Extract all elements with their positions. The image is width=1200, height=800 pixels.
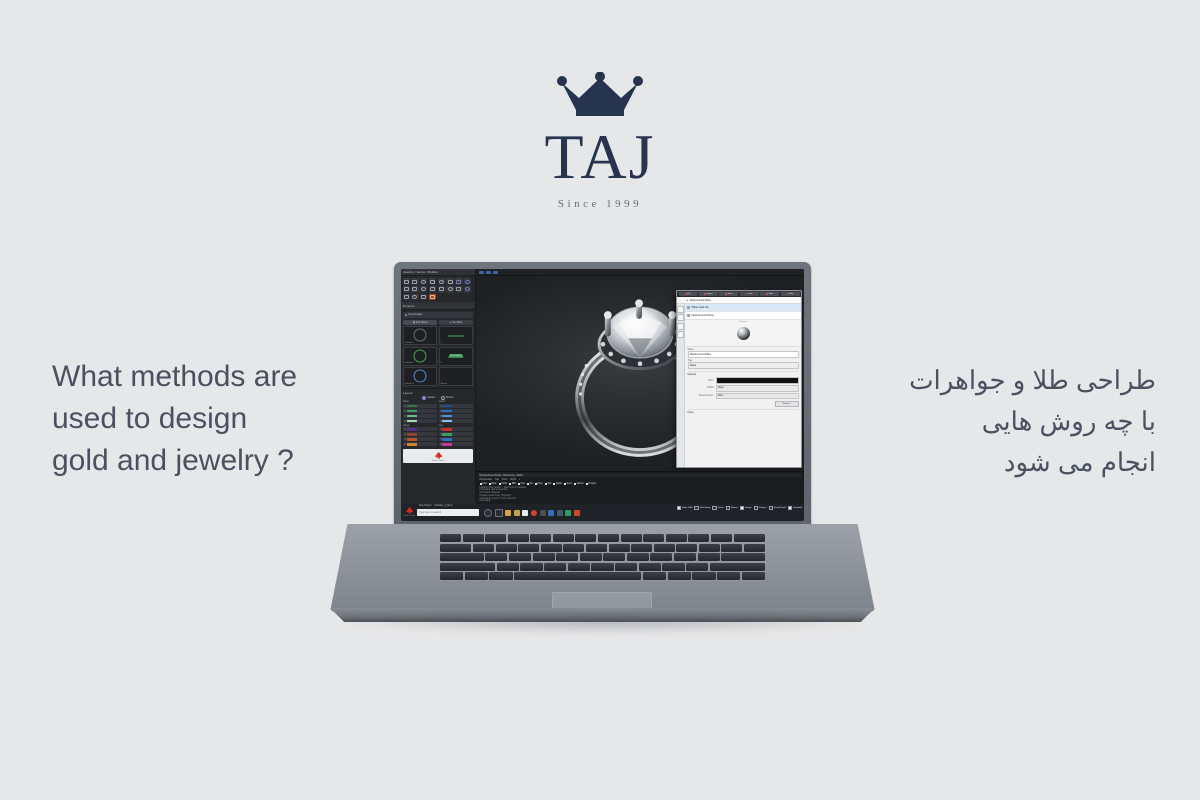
visibility-icon[interactable] [404, 410, 406, 412]
color-chip[interactable] [407, 433, 417, 436]
render-mode-icon[interactable] [493, 271, 498, 274]
thumbnail-gallery[interactable]: Default 1 Default 2 Default 3 [401, 326, 475, 386]
snap-vertex[interactable]: Vertex [574, 483, 584, 485]
word-icon[interactable] [557, 510, 563, 516]
forward-arrow-icon[interactable]: → [683, 299, 685, 302]
key-row [440, 544, 765, 552]
thumbnail-caption: Metals [441, 383, 447, 385]
swatch-row[interactable] [439, 419, 473, 423]
key [643, 534, 664, 542]
laptop-screen: Jewelry / Gems / Builder [401, 269, 804, 521]
row-color-label: Color [688, 380, 714, 382]
start-label: Jewel Canada [403, 515, 415, 517]
material-preview: Preview [685, 320, 801, 347]
toggle-snaps[interactable]: Snaps [740, 506, 752, 511]
visibility-icon[interactable] [440, 438, 442, 440]
row-bump-value[interactable]: None [716, 393, 799, 400]
color-chip[interactable] [407, 438, 417, 441]
row-polish: Polish Gloss [685, 384, 801, 392]
bend-icon[interactable] [438, 286, 445, 292]
windows-taskbar[interactable]: Jewel Canada Type here to search [401, 504, 804, 521]
ribbon-tab-help[interactable]: Help [781, 292, 800, 296]
snap-perp[interactable]: Perp [535, 483, 543, 485]
scale-icon[interactable] [429, 286, 436, 292]
key [463, 534, 484, 542]
ribbon-tab-import[interactable]: Import [699, 292, 718, 296]
settings-icon[interactable] [540, 510, 546, 516]
key [497, 563, 519, 571]
row-bump-label: Bump Amount [688, 395, 714, 397]
radio-icon [441, 396, 445, 400]
color-chip[interactable] [442, 433, 452, 436]
field-type: Type Metal [685, 358, 801, 369]
grid-view-icon[interactable] [677, 314, 684, 321]
browser-icon[interactable] [531, 510, 537, 516]
layer-mode-stones[interactable]: Stones [441, 396, 454, 400]
swatch-group-label: Gems [439, 401, 473, 403]
color-chip[interactable] [442, 428, 452, 431]
key [518, 544, 539, 552]
thumbnail-item[interactable]: Metals [439, 367, 473, 386]
tab-full-views-label: Full Views [416, 321, 427, 324]
swatch-row[interactable] [403, 427, 437, 431]
poster-canvas: TAJ Since 1999 What methods are used to … [0, 0, 1200, 800]
key [631, 544, 652, 552]
swatch-row[interactable] [403, 414, 437, 418]
key [662, 563, 684, 571]
laptop-device: Jewelry / Gems / Builder [330, 262, 875, 642]
ring-preview-icon [414, 370, 427, 383]
sphere-preview-icon[interactable] [677, 323, 684, 330]
key [440, 534, 461, 542]
row-polish-value[interactable]: Gloss [716, 385, 799, 392]
key-arrow-left [692, 572, 715, 580]
key [711, 534, 732, 542]
visibility-icon[interactable] [440, 405, 442, 407]
toolbar-title: Jewelry / Gems / Builder [401, 269, 475, 276]
viewport-tab-right[interactable]: Right [510, 478, 516, 481]
row-color: Color [685, 376, 801, 384]
key [544, 563, 566, 571]
tool-grid[interactable] [401, 276, 475, 302]
key [654, 544, 675, 552]
thumbnail-caption: 2 [441, 362, 442, 364]
key [556, 553, 578, 561]
layers-panel: Layers Metals Stones [401, 388, 475, 447]
thumbnail-item[interactable]: 2 [439, 347, 473, 366]
sphere-icon [687, 306, 690, 309]
key-arrow-right [742, 572, 765, 580]
ribbon-tab-tools[interactable]: Tools [760, 292, 779, 296]
snap-near[interactable]: Near [489, 483, 497, 485]
key [575, 534, 596, 542]
swatch-row[interactable] [403, 442, 437, 446]
thumbnail-item[interactable]: 1 [439, 326, 473, 345]
visibility-icon[interactable] [404, 433, 406, 435]
toggle-planar[interactable]: Planar [726, 506, 738, 511]
toggle-project[interactable]: Project [754, 506, 767, 511]
preview-caption: Preview [685, 321, 801, 323]
maple-leaf-icon [434, 451, 443, 460]
curve-icon[interactable] [429, 278, 436, 284]
loft-icon[interactable] [411, 278, 418, 284]
key [485, 534, 506, 542]
gem-icon[interactable] [455, 278, 462, 284]
key [533, 553, 555, 561]
section-notes: Notes [688, 409, 799, 414]
key [598, 534, 619, 542]
thumbnail-caption: 1 [441, 342, 442, 344]
viewport-tab-perspective[interactable]: Perspective [480, 478, 493, 481]
key-row [440, 572, 765, 580]
swatch-grid[interactable]: Object Line [403, 425, 473, 448]
key [744, 544, 765, 552]
material-item-label: White Gold 14k [692, 306, 709, 309]
viewport-toolbar[interactable] [476, 269, 804, 276]
extrude-icon[interactable] [403, 278, 410, 284]
field-name-input[interactable]: Metal Ground Plane [688, 351, 799, 358]
material-list-item[interactable]: White Gold 14k [685, 304, 801, 312]
key [686, 563, 708, 571]
key-alt [643, 572, 666, 580]
command-panel: My Rendered Studio - Rendering - Matrix … [476, 471, 804, 504]
key [615, 563, 637, 571]
key-win [489, 572, 512, 580]
render-viewport[interactable]: File Import Save View Tools Help ← → [476, 276, 804, 471]
key [688, 534, 709, 542]
key [627, 553, 649, 561]
sphere-icon: ● [687, 299, 688, 302]
thumbnail-caption: Default 3 [405, 383, 414, 385]
material-list[interactable]: White Gold 14k Metal Ground Plane Previe… [685, 304, 801, 467]
key [650, 553, 672, 561]
visibility-icon[interactable] [404, 405, 406, 407]
swatch-row[interactable] [439, 414, 473, 418]
swatch-group: Gems [439, 401, 473, 424]
warn-icon[interactable] [429, 294, 436, 300]
layer-mode-metals-label: Metals [427, 396, 434, 399]
array-icon[interactable] [411, 286, 418, 292]
key-row [440, 563, 765, 571]
visibility-icon[interactable] [404, 420, 406, 422]
swatch-row[interactable] [439, 432, 473, 436]
swatch-row[interactable] [439, 409, 473, 413]
thumbnail-item[interactable]: Default 2 [403, 347, 437, 366]
key [674, 553, 696, 561]
maple-leaf-icon [405, 506, 414, 515]
key-shift-right [710, 563, 765, 571]
color-swatch-button[interactable] [716, 377, 799, 384]
key-arrow-up [717, 572, 740, 580]
key [621, 534, 642, 542]
visibility-icon[interactable] [404, 438, 406, 440]
tab-full-views[interactable]: ▦ Full Views [403, 320, 437, 326]
key [530, 534, 551, 542]
visibility-icon[interactable] [440, 433, 442, 435]
measure-icon[interactable] [403, 294, 410, 300]
laptop-lid: Jewelry / Gems / Builder [394, 262, 811, 530]
key-capslock [440, 553, 484, 561]
preview-sphere-icon [737, 327, 750, 340]
key [520, 563, 542, 571]
dialog-side-rail[interactable] [677, 304, 685, 467]
key [591, 563, 613, 571]
color-chip[interactable] [442, 405, 452, 408]
key [509, 553, 531, 561]
snap-point[interactable]: Point [499, 483, 508, 485]
row-polish-label: Polish [688, 387, 714, 389]
color-chip[interactable] [442, 438, 452, 441]
dialog-body: White Gold 14k Metal Ground Plane Previe… [677, 304, 801, 467]
twist-icon[interactable] [446, 286, 453, 292]
thumbnail-caption: Default 2 [405, 362, 414, 364]
key [580, 553, 602, 561]
visibility-icon[interactable] [440, 420, 442, 422]
render-icon[interactable] [464, 286, 471, 292]
sweep-icon[interactable] [446, 278, 453, 284]
status-toggles[interactable]: Auto CAD Grid Snap Ortho Planar Snaps Pr… [677, 506, 802, 511]
breadcrumb-label: Metal Ground Plane [690, 299, 711, 302]
command-prompt[interactable]: Command: [478, 500, 802, 503]
color-chip[interactable] [442, 415, 452, 418]
ribbon-tab-file[interactable]: File [679, 292, 698, 296]
cad-application: Jewelry / Gems / Builder [401, 269, 804, 504]
key-menu [668, 572, 691, 580]
snap-quad[interactable]: Quad [553, 483, 562, 485]
key [473, 544, 494, 552]
objects-title: Projects [401, 302, 475, 309]
key [496, 544, 517, 552]
swatch-row[interactable] [439, 437, 473, 441]
key [563, 544, 584, 552]
sphere-icon [687, 314, 690, 317]
key [721, 544, 742, 552]
mail-icon[interactable] [522, 510, 528, 516]
viewport-area: Perspective [476, 269, 804, 504]
task-view-icon[interactable] [495, 509, 503, 517]
row-bump: Bump Amount None [685, 392, 801, 400]
key [698, 553, 720, 561]
viewport-tab-front[interactable]: Front [502, 478, 508, 481]
dialog-breadcrumb: ← → ● Metal Ground Plane [677, 297, 801, 304]
taskbar-icons[interactable] [484, 509, 580, 517]
laptop-keyboard [440, 534, 765, 586]
key [508, 534, 529, 542]
list-view-icon[interactable] [677, 306, 684, 313]
material-list-item[interactable]: Metal Ground Plane [685, 312, 801, 320]
snap-project[interactable]: Project [586, 483, 597, 485]
taskbar-app-new-project[interactable]: New Project [419, 505, 431, 507]
key [485, 553, 507, 561]
key [676, 544, 697, 552]
left-tool-panel: Jewelry / Gems / Builder [401, 269, 476, 504]
visibility-icon[interactable] [440, 410, 442, 412]
field-type-input[interactable]: Metal [688, 362, 799, 369]
grid-icon: ▦ [413, 321, 415, 324]
key-space [514, 572, 641, 580]
key [568, 563, 590, 571]
thumbnail-caption: Default 1 [405, 342, 414, 344]
cortana-icon[interactable] [484, 509, 492, 517]
taskbar-app-labels[interactable]: New Project Software_4_Ment [419, 505, 452, 507]
ring-preview-icon [414, 329, 427, 342]
tab-set-ring-label: Set Ring [453, 321, 463, 324]
laptop-shadow [340, 614, 865, 634]
start-button[interactable]: Jewel Canada [403, 506, 415, 519]
viewport-tab-add[interactable]: + [519, 478, 520, 481]
brand-logo: TAJ Since 1999 [0, 72, 1200, 210]
key-backspace [734, 534, 765, 542]
layer-mode-metals[interactable]: Metals [422, 396, 434, 400]
tab-set-ring[interactable]: ◎ Set Ring [439, 320, 473, 326]
swatch-group-label: Metal [403, 401, 437, 403]
key [609, 544, 630, 552]
back-arrow-icon[interactable]: ← [679, 299, 681, 302]
key-tab [440, 544, 471, 552]
visibility-icon[interactable] [440, 428, 442, 430]
color-chip[interactable] [442, 410, 452, 413]
color-chip[interactable] [407, 410, 417, 413]
thumbnail-item[interactable]: Default 3 [403, 367, 437, 386]
key [699, 544, 720, 552]
brand-tagline: Since 1999 [0, 198, 1200, 210]
key-row [440, 534, 765, 542]
material-editor-dialog[interactable]: File Import Save View Tools Help ← → [676, 290, 802, 468]
visibility-icon[interactable] [404, 428, 406, 430]
color-chip[interactable] [407, 428, 417, 431]
object-row[interactable]: New Project [403, 312, 473, 318]
object-dot-icon [405, 314, 407, 316]
search-input[interactable]: Type here to search [417, 509, 479, 516]
flag-caption: Jewel Canada [403, 460, 473, 462]
crown-icon [552, 72, 648, 120]
add-material-icon[interactable] [677, 331, 684, 338]
color-chip[interactable] [407, 405, 417, 408]
gem-preview-icon [448, 354, 464, 358]
flow-icon[interactable] [455, 286, 462, 292]
ring-icon: ◎ [449, 321, 451, 324]
layer-mode-stones-label: Stones [446, 396, 454, 399]
snap-knot[interactable]: Knot [564, 483, 572, 485]
visibility-icon[interactable] [404, 415, 406, 417]
key [603, 553, 625, 561]
color-chip[interactable] [407, 415, 417, 418]
key [666, 534, 687, 542]
viewport-tab-top[interactable]: Top [495, 478, 499, 481]
key-fn [465, 572, 488, 580]
ribbon-tab-view[interactable]: View [740, 292, 759, 296]
color-chip[interactable] [407, 420, 417, 423]
swatch-row[interactable] [403, 404, 437, 408]
layer-mode-tabs[interactable]: Metals Stones [403, 396, 473, 400]
swatch-grid[interactable]: Metal Gems [403, 401, 473, 424]
swatch-row[interactable] [403, 409, 437, 413]
boolean-icon[interactable] [403, 286, 410, 292]
swatch-row[interactable] [403, 437, 437, 441]
object-row-label: New Project [408, 313, 422, 316]
swatch-group: Line [439, 425, 473, 448]
toggle-smarttrack[interactable]: SmartTrack [769, 506, 786, 511]
shade-mode-icon[interactable] [486, 271, 491, 274]
color-chip[interactable] [442, 443, 452, 446]
snap-end[interactable]: End [480, 483, 487, 485]
snap-int[interactable]: Int [527, 483, 533, 485]
settings-icon[interactable] [464, 278, 471, 284]
swatch-row[interactable] [403, 419, 437, 423]
key [553, 534, 574, 542]
visibility-icon[interactable] [440, 415, 442, 417]
key-ctrl [440, 572, 463, 580]
folder-icon[interactable] [505, 510, 511, 516]
snap-tan[interactable]: Tan [545, 483, 552, 485]
mirror-icon[interactable] [420, 286, 427, 292]
key [639, 563, 661, 571]
toggle-auto-cad[interactable]: Auto CAD [677, 506, 693, 511]
arc-icon[interactable] [438, 278, 445, 284]
swatch-group: Object [403, 425, 437, 448]
swatch-group: Metal [403, 401, 437, 424]
color-chip[interactable] [407, 443, 417, 446]
powerpoint-icon[interactable] [574, 510, 580, 516]
taskbar-app-software[interactable]: Software_4_Ment [434, 505, 452, 507]
toggle-grid-snap[interactable]: Grid Snap [694, 506, 710, 511]
key [541, 544, 562, 552]
brand-flag-panel: Jewel Canada [403, 449, 473, 463]
surface-icon[interactable] [420, 278, 427, 284]
snap-cen[interactable]: Cen [518, 483, 525, 485]
store-icon[interactable] [514, 510, 520, 516]
swatch-row[interactable] [439, 404, 473, 408]
visibility-icon[interactable] [440, 443, 442, 445]
key [586, 544, 607, 552]
gallery-tabs[interactable]: ▦ Full Views ◎ Set Ring [403, 320, 473, 326]
snap-mid[interactable]: Mid [509, 483, 516, 485]
view-mode-icon[interactable] [479, 271, 484, 274]
field-name: Name Metal Ground Plane [685, 347, 801, 358]
toggle-gumball[interactable]: Gumball [788, 506, 802, 511]
key-shift-left [440, 563, 495, 571]
prong-icon[interactable] [420, 294, 427, 300]
thumbnail-item[interactable]: Default 1 [403, 326, 437, 345]
swatch-row[interactable] [403, 432, 437, 436]
ring-preview-icon [414, 349, 427, 362]
edge-icon[interactable] [548, 510, 554, 516]
ribbon-tab-save[interactable]: Save [719, 292, 738, 296]
material-item-label: Metal Ground Plane [692, 314, 714, 317]
bar-preview-icon [448, 335, 464, 337]
key-enter [721, 553, 765, 561]
swatch-row[interactable] [439, 442, 473, 446]
swatch-row[interactable] [439, 427, 473, 431]
radio-icon [422, 396, 426, 400]
textures-button[interactable]: Textures [775, 401, 799, 408]
color-chip[interactable] [442, 420, 452, 423]
brand-name: TAJ [0, 122, 1200, 192]
toggle-ortho[interactable]: Ortho [712, 506, 723, 511]
key-row [440, 553, 765, 561]
excel-icon[interactable] [565, 510, 571, 516]
shank-icon[interactable] [411, 294, 418, 300]
visibility-icon[interactable] [404, 443, 406, 445]
